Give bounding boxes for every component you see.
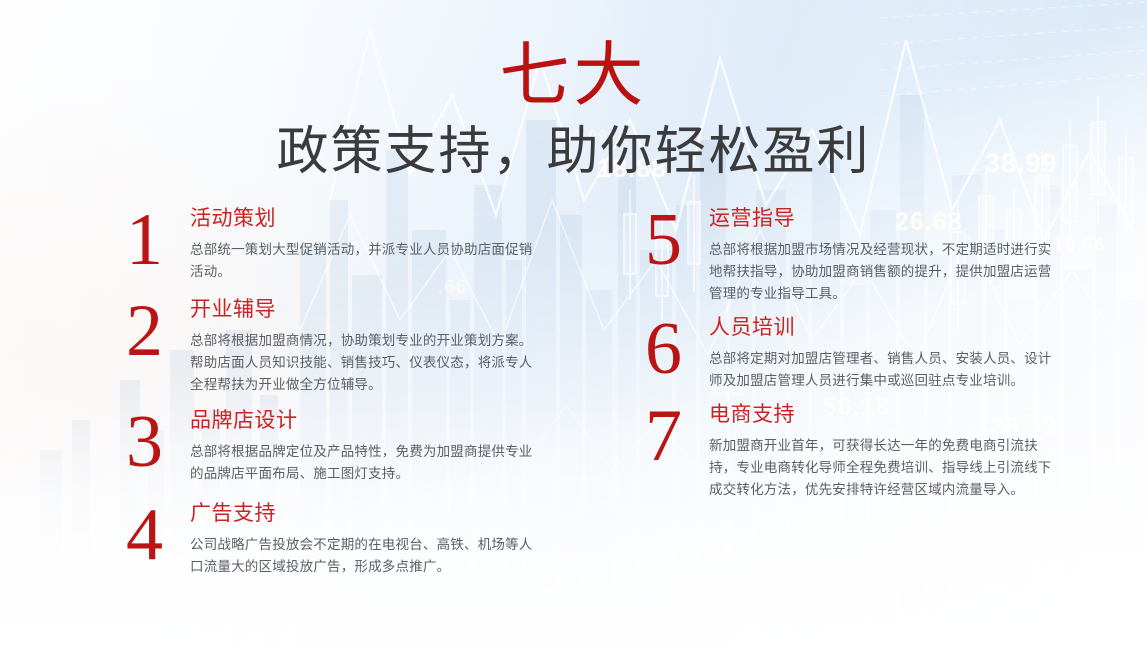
page-title-sub: 政策支持，助你轻松盈利 [0,124,1147,181]
item-body: 品牌店设计 总部将根据品牌定位及产品特性，免费为加盟商提供专业的品牌店平面布局、… [190,408,546,485]
ticker-number: 66 [1112,475,1130,491]
item-body: 活动策划 总部统一策划大型促销活动，并派专业人员协助店面促销活动。 [190,206,546,283]
left-column: 1 活动策划 总部统一策划大型促销活动，并派专业人员协助店面促销活动。 2 开业… [126,206,546,588]
item-description: 总部将根据加盟市场情况及经营现状，不定期适时进行实地帮扶指导，协助加盟商销售额的… [709,239,1065,305]
right-column: 5 运营指导 总部将根据加盟市场情况及经营现状，不定期适时进行实地帮扶指导，协助… [645,206,1065,511]
list-item: 5 运营指导 总部将根据加盟市场情况及经营现状，不定期适时进行实地帮扶指导，协助… [645,206,1065,305]
item-number: 1 [126,212,190,270]
item-number: 2 [126,303,190,361]
item-description: 总部将定期对加盟店管理者、销售人员、安装人员、设计师及加盟店管理人员进行集中或巡… [709,348,1065,392]
item-title: 活动策划 [190,206,546,232]
item-description: 总部将根据加盟商情况，协助策划专业的开业策划方案。帮助店面人员知识技能、销售技巧… [190,330,546,396]
item-description: 新加盟商开业首年，可获得长达一年的免费电商引流扶持，专业电商转化导师全程免费培训… [709,435,1065,501]
item-title: 广告支持 [190,501,546,527]
item-body: 人员培训 总部将定期对加盟店管理者、销售人员、安装人员、设计师及加盟店管理人员进… [709,315,1065,392]
item-description: 总部将根据品牌定位及产品特性，免费为加盟商提供专业的品牌店平面布局、施工图灯支持… [190,441,546,485]
item-number: 4 [126,507,190,565]
list-item: 2 开业辅导 总部将根据加盟商情况，协助策划专业的开业策划方案。帮助店面人员知识… [126,297,546,396]
list-item: 4 广告支持 公司战略广告投放会不定期的在电视台、高铁、机场等人口流量大的区域投… [126,501,546,578]
item-number: 6 [645,321,709,379]
item-number: 3 [126,414,190,472]
item-title: 人员培训 [709,315,1065,341]
list-item: 3 品牌店设计 总部将根据品牌定位及产品特性，免费为加盟商提供专业的品牌店平面布… [126,408,546,485]
page-title-main: 七大 [0,42,1147,112]
item-description: 总部统一策划大型促销活动，并派专业人员协助店面促销活动。 [190,239,546,283]
item-title: 电商支持 [709,402,1065,428]
item-description: 公司战略广告投放会不定期的在电视台、高铁、机场等人口流量大的区域投放广告，形成多… [190,534,546,578]
item-number: 7 [645,408,709,466]
item-title: 运营指导 [709,206,1065,232]
item-number: 5 [645,212,709,270]
item-body: 电商支持 新加盟商开业首年，可获得长达一年的免费电商引流扶持，专业电商转化导师全… [709,402,1065,501]
list-item: 1 活动策划 总部统一策划大型促销活动，并派专业人员协助店面促销活动。 [126,206,546,283]
item-body: 运营指导 总部将根据加盟市场情况及经营现状，不定期适时进行实地帮扶指导，协助加盟… [709,206,1065,305]
list-item: 7 电商支持 新加盟商开业首年，可获得长达一年的免费电商引流扶持，专业电商转化导… [645,402,1065,501]
item-body: 开业辅导 总部将根据加盟商情况，协助策划专业的开业策划方案。帮助店面人员知识技能… [190,297,546,396]
item-title: 开业辅导 [190,297,546,323]
slide-canvas: 38.99 26.68 19.66 18.88 56.18 38.99 .66 … [0,0,1147,645]
item-title: 品牌店设计 [190,408,546,434]
list-item: 6 人员培训 总部将定期对加盟店管理者、销售人员、安装人员、设计师及加盟店管理人… [645,315,1065,392]
item-body: 广告支持 公司战略广告投放会不定期的在电视台、高铁、机场等人口流量大的区域投放广… [190,501,546,578]
